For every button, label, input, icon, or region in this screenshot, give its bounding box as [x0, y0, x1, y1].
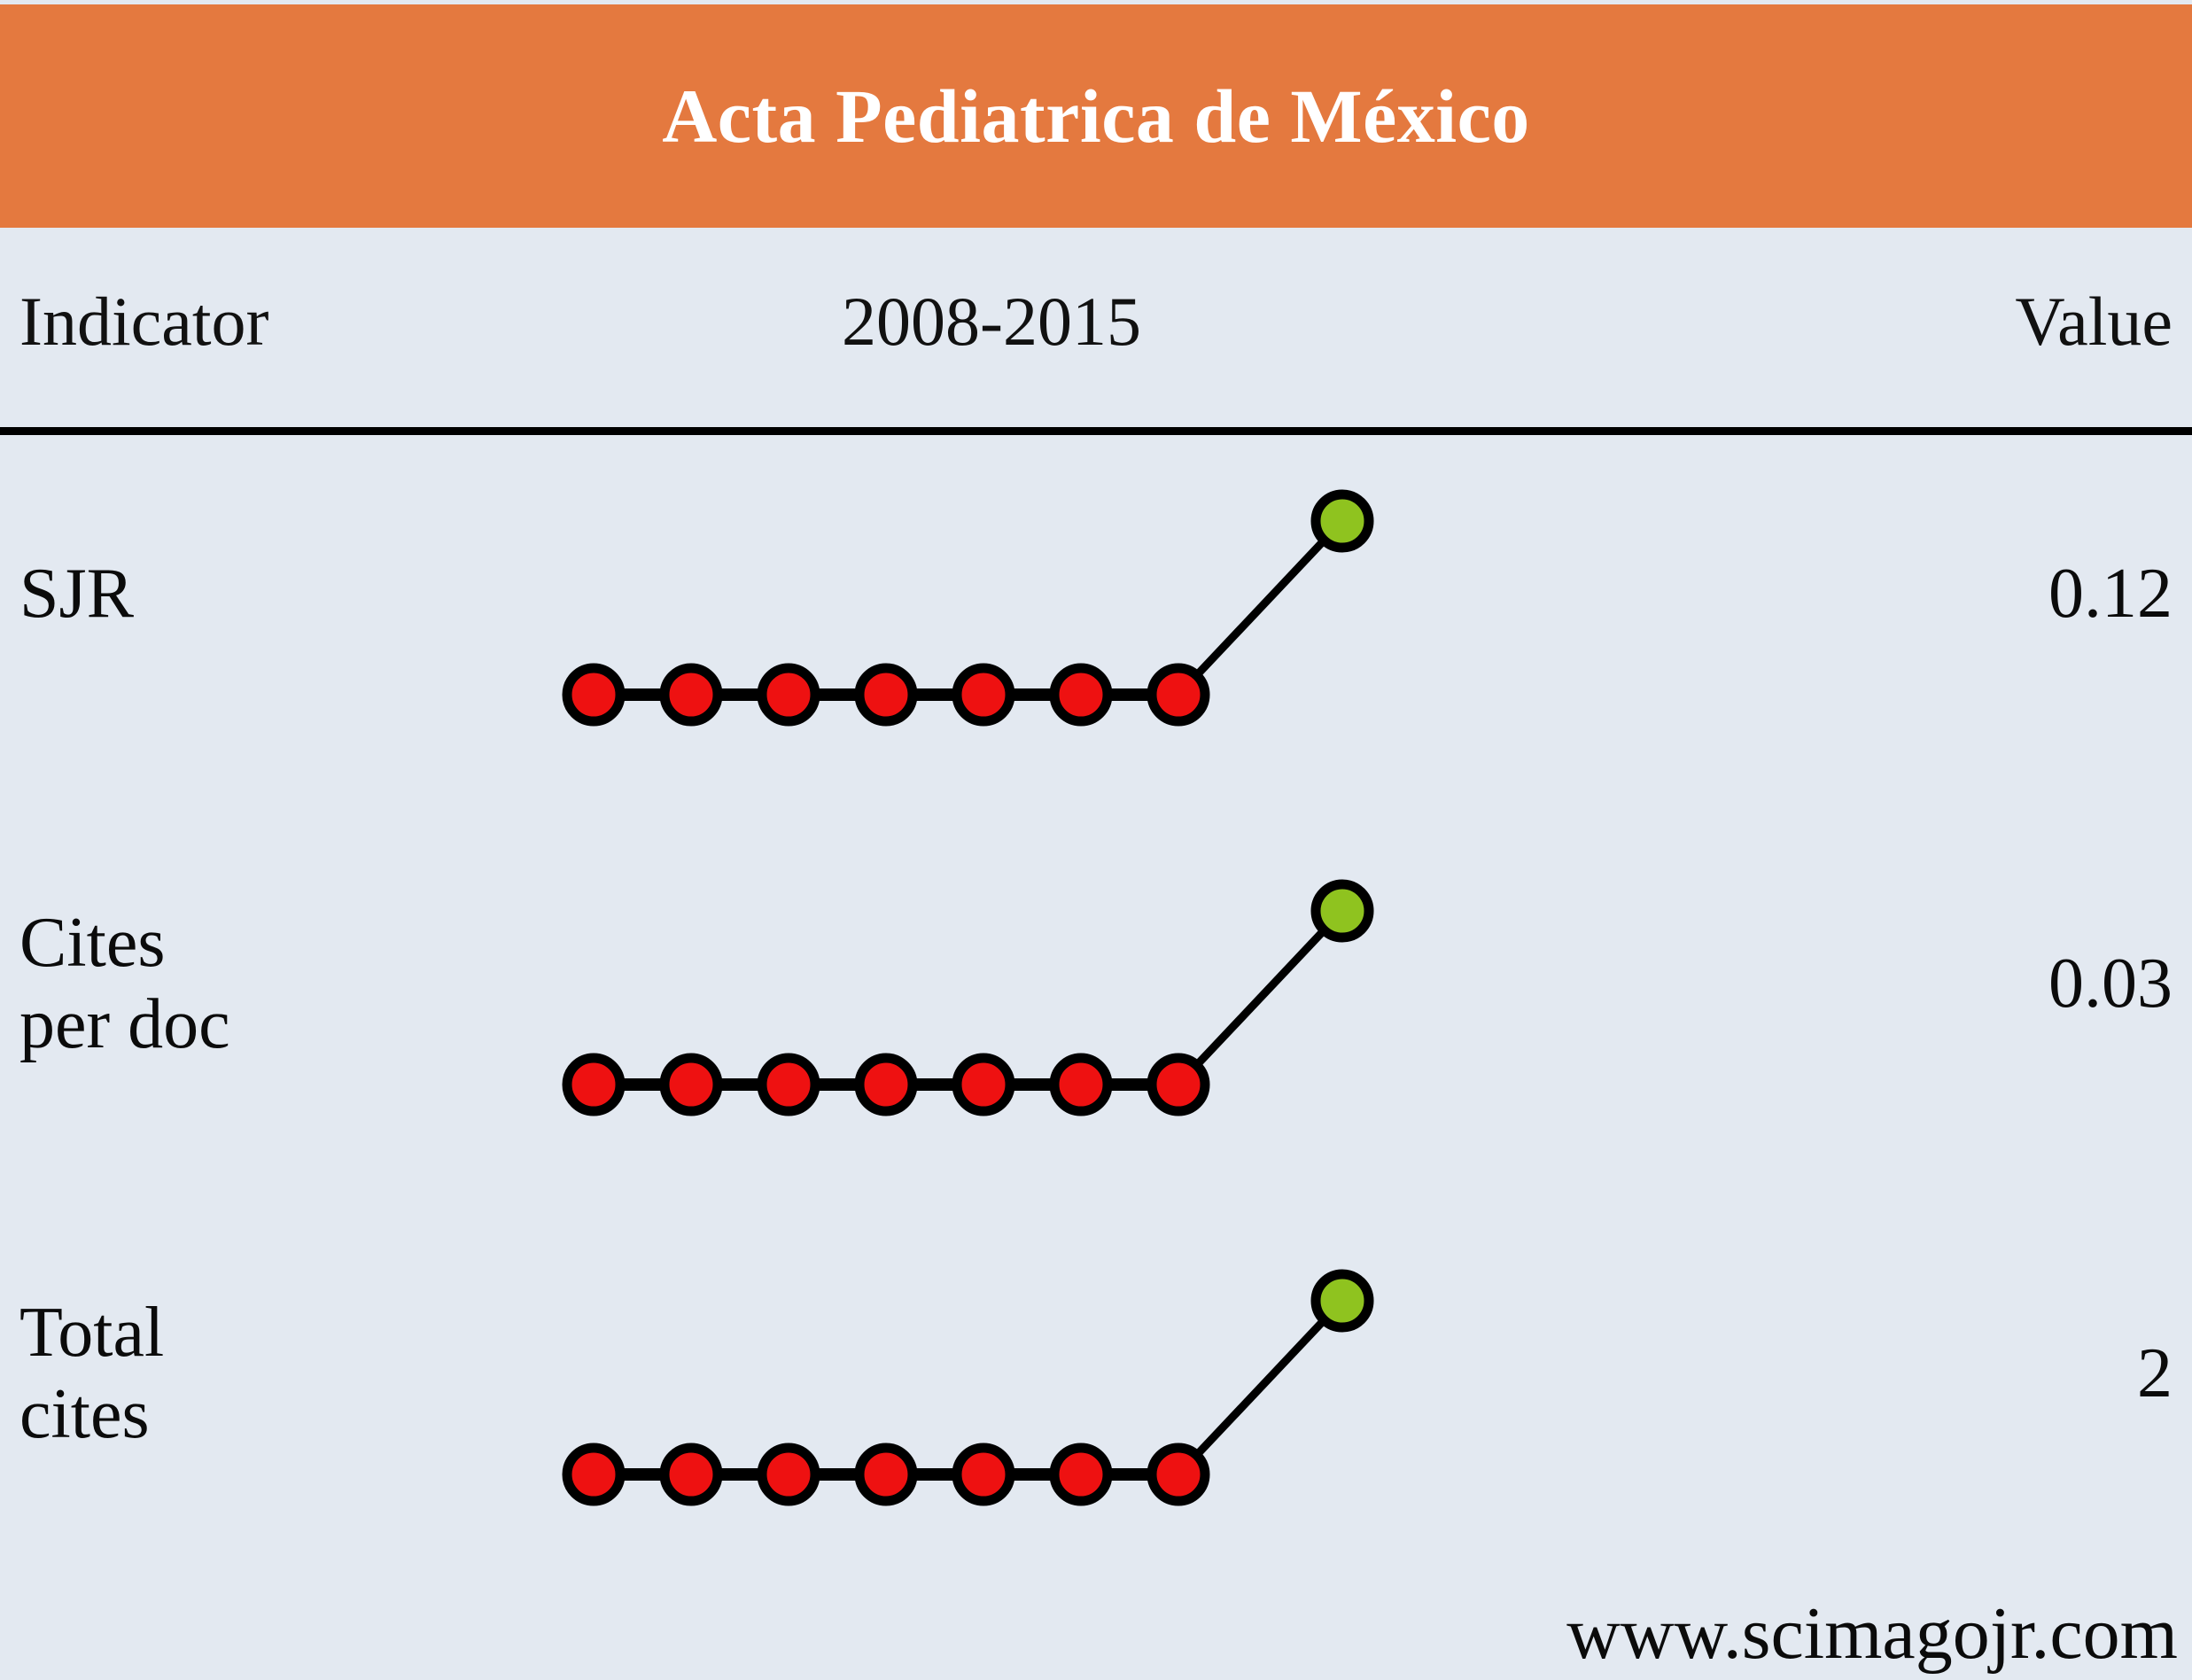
row-label-sjr: SJR	[19, 553, 551, 634]
journal-title: Acta Pediatrica de México	[662, 78, 1530, 154]
data-point-marker	[957, 1448, 1010, 1501]
row-label-cites-per-doc: Cites per doc	[19, 902, 551, 1065]
row-label-line2: per doc	[19, 984, 551, 1065]
data-point-marker	[665, 1058, 718, 1111]
data-point-marker	[1152, 1448, 1205, 1501]
data-point-marker-latest	[1316, 1274, 1369, 1327]
column-header-period: 2008-2015	[842, 287, 1141, 356]
table-row-cites-per-doc: Cites per doc 0.03	[0, 829, 2192, 1219]
table-row-sjr: SJR 0.12	[0, 439, 2192, 829]
row-value-sjr: 0.12	[2048, 553, 2173, 634]
row-value-cites-per-doc: 0.03	[2048, 943, 2173, 1024]
sparkline-rise-segment	[1178, 911, 1342, 1085]
sparkline-total-cites	[532, 1219, 1701, 1609]
data-point-marker	[567, 668, 620, 721]
data-point-marker	[957, 1058, 1010, 1111]
sparkline-rise-segment	[1178, 521, 1342, 695]
data-point-marker	[957, 668, 1010, 721]
sparkline-sjr-svg	[532, 439, 1701, 829]
data-point-marker	[859, 1058, 913, 1111]
sparkline-cites-per-doc	[532, 829, 1701, 1219]
scimago-journal-widget: Acta Pediatrica de México Indicator 2008…	[0, 0, 2192, 1680]
data-point-marker	[1054, 668, 1108, 721]
sparkline-total-cites-svg	[532, 1219, 1701, 1609]
column-header-value: Value	[2015, 287, 2173, 356]
table-header-row: Indicator 2008-2015 Value	[0, 232, 2192, 427]
data-point-marker	[567, 1448, 620, 1501]
row-label-line1: Total	[19, 1292, 551, 1373]
data-point-marker	[1152, 1058, 1205, 1111]
sparkline-sjr	[532, 439, 1701, 829]
data-point-marker	[1054, 1058, 1108, 1111]
data-point-marker	[859, 668, 913, 721]
data-point-marker	[762, 668, 815, 721]
data-point-marker	[762, 1058, 815, 1111]
data-point-marker	[665, 1448, 718, 1501]
data-point-marker-latest	[1316, 884, 1369, 937]
scimago-url[interactable]: www.scimagojr.com	[1566, 1590, 2178, 1678]
header-divider-rule	[0, 427, 2192, 435]
data-point-marker-latest	[1316, 494, 1369, 548]
row-label-line1: Cites	[19, 902, 551, 984]
sparkline-cites-per-doc-svg	[532, 829, 1701, 1219]
data-point-marker	[665, 668, 718, 721]
data-point-marker	[567, 1058, 620, 1111]
row-label-total-cites: Total cites	[19, 1292, 551, 1455]
row-value-total-cites: 2	[2137, 1333, 2173, 1414]
data-point-marker	[859, 1448, 913, 1501]
sparkline-rise-segment	[1178, 1301, 1342, 1474]
journal-title-bar: Acta Pediatrica de México	[0, 4, 2192, 228]
row-label-line2: cites	[19, 1373, 551, 1455]
data-point-marker	[1054, 1448, 1108, 1501]
data-point-marker	[762, 1448, 815, 1501]
data-point-marker	[1152, 668, 1205, 721]
column-header-indicator: Indicator	[19, 287, 269, 356]
table-row-total-cites: Total cites 2	[0, 1219, 2192, 1609]
